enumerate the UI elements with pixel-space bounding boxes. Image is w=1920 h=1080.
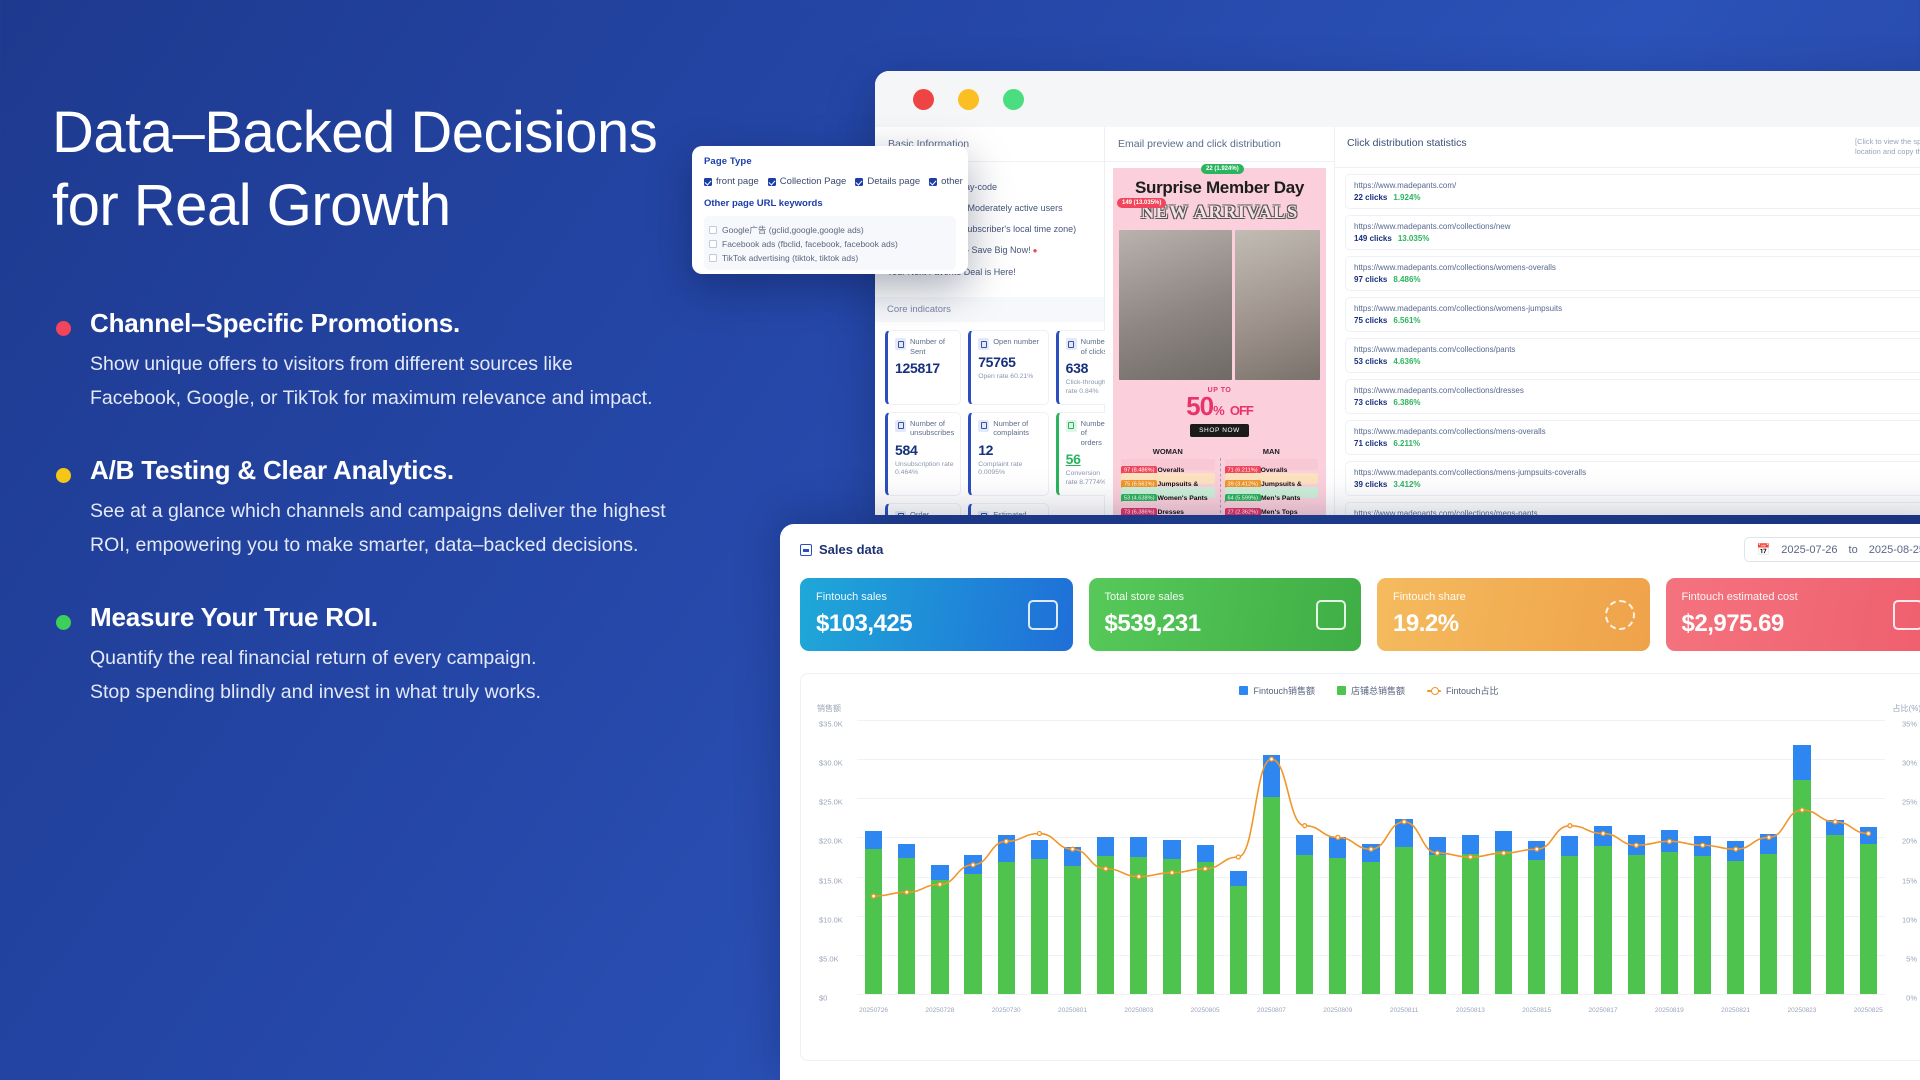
sales-kpi-total-store-sales: Total store sales $539,231 xyxy=(1089,578,1362,651)
cart-icon xyxy=(1066,420,1077,432)
offer-number: 50 xyxy=(1186,391,1213,421)
kpi-sublabel: Unsubscription rate 0.464% xyxy=(895,461,954,479)
window-titlebar xyxy=(875,71,1920,127)
row-chip: 27 (2.362%) xyxy=(1225,508,1261,515)
y-tick-right: 30% xyxy=(1902,759,1917,768)
kpi-value: 12 xyxy=(978,442,1041,458)
click-badge-left: 149 (13.035%) xyxy=(1117,198,1166,208)
chart-line-series xyxy=(857,720,1885,994)
core-indicators-header: Core indicators xyxy=(875,297,1104,322)
kpi-sublabel: Click-through rate 0.84% xyxy=(1066,379,1108,397)
warning-icon xyxy=(978,420,989,432)
list-item[interactable]: https://www.madepants.com/collections/dr… xyxy=(1345,379,1920,414)
page-type-card: Page Type front page Collection Page Det… xyxy=(692,146,968,274)
y-tick-left: $0 xyxy=(819,994,827,1003)
sales-title-group: Sales data xyxy=(800,542,883,557)
link-stat: 73 clicks6.386% xyxy=(1354,398,1920,407)
list-item[interactable]: https://www.madepants.com/collections/wo… xyxy=(1345,297,1920,332)
sales-header: Sales data 📅 2025-07-26 to 2025-08-25 xyxy=(780,524,1920,572)
list-item[interactable]: https://www.madepants.com/collections/pa… xyxy=(1345,338,1920,373)
checkbox-icon[interactable] xyxy=(855,178,863,186)
link-url: https://www.madepants.com/collections/ne… xyxy=(1354,222,1920,231)
y-axis-left-label: 销售额 xyxy=(817,703,841,714)
x-tick: 20250726 xyxy=(857,1007,890,1014)
checkbox-front-page[interactable]: front page xyxy=(704,176,759,187)
model-photo xyxy=(1119,230,1232,380)
list-item[interactable]: https://www.madepants.com/collections/wo… xyxy=(1345,256,1920,291)
sales-kpi-fintouch-share: Fintouch share 19.2% xyxy=(1377,578,1650,651)
card-icon xyxy=(978,511,989,515)
link-stat: 22 clicks1.924% xyxy=(1354,193,1920,202)
kpi-label: Open number xyxy=(993,337,1039,346)
bullet-dot-icon xyxy=(56,321,71,336)
x-tick: 20250803 xyxy=(1122,1007,1155,1014)
legend-item-fintouch-share[interactable]: Fintouch占比 xyxy=(1427,684,1499,697)
list-item[interactable]: https://www.madepants.com/collections/me… xyxy=(1345,420,1920,455)
minimize-icon[interactable] xyxy=(958,89,979,110)
y-tick-left: $25.0K xyxy=(819,798,843,807)
link-clicks: 97 clicks xyxy=(1354,275,1387,284)
core-indicators-grid: Number of Sent 125817 Open number 75765 … xyxy=(875,322,1104,515)
category-row: 73 (6.386%)Dresses xyxy=(1121,501,1215,512)
sales-kpi-fintouch-sales: Fintouch sales $103,425 xyxy=(800,578,1073,651)
close-icon[interactable] xyxy=(913,89,934,110)
click-distribution-note: [Click to view the specific location and… xyxy=(1855,137,1920,157)
link-clicks: 53 clicks xyxy=(1354,357,1387,366)
list-item[interactable]: https://www.madepants.com/collections/me… xyxy=(1345,461,1920,496)
feature-item-3: Measure Your True ROI. Quantify the real… xyxy=(52,602,822,709)
y-tick-right: 20% xyxy=(1902,837,1917,846)
kpi-value: 56 xyxy=(1066,451,1108,467)
kpi-label: Number of orders xyxy=(1081,419,1108,447)
category-title: WOMAN xyxy=(1121,447,1215,456)
kpi-value: $539,231 xyxy=(1105,610,1346,638)
kpi-label: Fintouch share xyxy=(1393,591,1634,603)
legend-item-store-sales[interactable]: 店铺总销售额 xyxy=(1337,684,1405,697)
link-stat: 149 clicks13.035% xyxy=(1354,234,1920,243)
feature-title: Measure Your True ROI. xyxy=(90,602,822,633)
gridline xyxy=(857,994,1885,995)
legend-label: Fintouch占比 xyxy=(1446,684,1499,697)
kpi-card: Number of Sent 125817 xyxy=(885,330,961,404)
feature-item-2: A/B Testing & Clear Analytics. See at a … xyxy=(52,455,822,562)
x-tick: 20250813 xyxy=(1454,1007,1487,1014)
checkbox-label: other xyxy=(941,176,963,187)
checkbox-label: Details page xyxy=(867,176,920,187)
chart-canvas xyxy=(857,720,1885,994)
model-photo xyxy=(1235,230,1320,380)
y-tick-left: $15.0K xyxy=(819,876,843,885)
link-url: https://www.madepants.com/collections/dr… xyxy=(1354,386,1920,395)
cursor-icon xyxy=(1066,338,1077,350)
feature-list: Channel–Specific Promotions. Show unique… xyxy=(52,308,822,709)
category-row: 64 (5.599%)Men's Pants xyxy=(1225,487,1319,498)
date-range-picker[interactable]: 📅 2025-07-26 to 2025-08-25 xyxy=(1744,537,1920,562)
checkbox-icon[interactable] xyxy=(709,240,717,248)
link-url: https://www.madepants.com/collections/wo… xyxy=(1354,263,1920,272)
checkbox-label: TikTok advertising (tiktok, tiktok ads) xyxy=(722,253,858,263)
sales-chart: Fintouch销售额 店铺总销售额 Fintouch占比 销售额 占比(%) … xyxy=(800,673,1920,1061)
kpi-label: Number of clicks xyxy=(1081,337,1108,356)
sales-kpi-row: Fintouch sales $103,425 Total store sale… xyxy=(780,572,1920,651)
chart-legend: Fintouch销售额 店铺总销售额 Fintouch占比 xyxy=(813,684,1920,697)
x-tick: 20250815 xyxy=(1520,1007,1553,1014)
bullet-dot-icon xyxy=(56,615,71,630)
x-axis-ticks: 20250726.20250728.20250730.20250801.2025… xyxy=(857,1007,1885,1014)
legend-item-fintouch-sales[interactable]: Fintouch销售额 xyxy=(1239,684,1315,697)
category-row: 71 (6.211%)Overalls xyxy=(1225,459,1319,470)
feature-title: A/B Testing & Clear Analytics. xyxy=(90,455,822,486)
checkbox-label: Collection Page xyxy=(780,176,847,187)
link-rate: 6.211% xyxy=(1393,439,1420,448)
kpi-label: Number of unsubscribes xyxy=(910,419,954,438)
y-tick-left: $10.0K xyxy=(819,915,843,924)
maximize-icon[interactable] xyxy=(1003,89,1024,110)
y-axis-right-label: 占比(%) xyxy=(1893,703,1920,714)
feature-body-line-2: Facebook, Google, or TikTok for maximum … xyxy=(90,387,653,409)
chart-icon xyxy=(800,544,812,556)
click-distribution-title: Click distribution statistics xyxy=(1347,137,1467,151)
list-item[interactable]: https://www.madepants.com/collections/ne… xyxy=(1345,215,1920,250)
cart-icon xyxy=(1316,600,1346,630)
checkbox-google-ads[interactable]: Google广告 (gclid,google,google ads) xyxy=(709,224,951,236)
x-tick: 20250809 xyxy=(1321,1007,1354,1014)
page-type-subheading: Other page URL keywords xyxy=(704,198,956,209)
envelope-icon xyxy=(895,338,906,350)
kpi-value: 75765 xyxy=(978,354,1041,370)
link-clicks: 149 clicks xyxy=(1354,234,1392,243)
checkbox-icon[interactable] xyxy=(704,178,712,186)
kpi-card: Open number 75765 Open rate 60.21% xyxy=(968,330,1048,404)
shop-now-button[interactable]: SHOP NOW xyxy=(1190,424,1249,437)
checkbox-other[interactable]: other xyxy=(929,176,963,187)
keyword-list: Google广告 (gclid,google,google ads) Faceb… xyxy=(704,216,956,270)
y-tick-right: 15% xyxy=(1902,876,1917,885)
feature-item-1: Channel–Specific Promotions. Show unique… xyxy=(52,308,822,415)
offer-value: 50% OFF xyxy=(1113,394,1326,419)
checkbox-details-page[interactable]: Details page xyxy=(855,176,920,187)
click-distribution-list: https://www.madepants.com/22 clicks1.924… xyxy=(1335,168,1920,516)
category-woman: WOMAN 97 (8.486%)Overalls 75 (6.561%)Jum… xyxy=(1121,447,1215,515)
sales-kpi-estimated-cost: Fintouch estimated cost $2,975.69 xyxy=(1666,578,1920,651)
y-tick-right: 5% xyxy=(1906,954,1917,963)
x-tick: 20250825 xyxy=(1852,1007,1885,1014)
row-label: Men's Tops xyxy=(1261,509,1298,515)
kpi-label: Number of complaints xyxy=(993,419,1041,438)
kpi-value: 19.2% xyxy=(1393,610,1634,638)
category-row: 39 (3.412%)Jumpsuits & Overalls xyxy=(1225,473,1319,484)
checkbox-label: Google广告 (gclid,google,google ads) xyxy=(722,224,864,236)
y-tick-left: $35.0K xyxy=(819,720,843,729)
link-rate: 4.636% xyxy=(1393,357,1420,366)
chart-axis-titles: 销售额 占比(%) xyxy=(813,703,1920,714)
x-tick: 20250805 xyxy=(1189,1007,1222,1014)
x-tick: 20250811 xyxy=(1388,1007,1421,1014)
category-title: MAN xyxy=(1225,447,1319,456)
checkbox-icon[interactable] xyxy=(709,254,717,262)
feature-body-line-1: Show unique offers to visitors from diff… xyxy=(90,353,573,375)
kpi-value: 638 xyxy=(1066,360,1108,376)
check-square-icon xyxy=(1028,600,1058,630)
x-tick: 20250817 xyxy=(1586,1007,1619,1014)
x-tick: 20250801 xyxy=(1056,1007,1089,1014)
click-distribution-header: Click distribution statistics [Click to … xyxy=(1335,127,1920,168)
kpi-sublabel: Open rate 60.21% xyxy=(978,373,1041,382)
checkbox-icon[interactable] xyxy=(709,226,717,234)
x-tick: 20250730 xyxy=(990,1007,1023,1014)
y-tick-right: 35% xyxy=(1902,720,1917,729)
link-rate: 13.035% xyxy=(1398,234,1430,243)
kpi-label: Estimated cost xyxy=(993,510,1041,515)
link-clicks: 73 clicks xyxy=(1354,398,1387,407)
link-stat: 71 clicks6.211% xyxy=(1354,439,1920,448)
kpi-label: Number of Sent xyxy=(910,337,954,356)
card-icon xyxy=(1893,600,1920,630)
legend-label: 店铺总销售额 xyxy=(1351,684,1405,697)
sales-title-text: Sales data xyxy=(819,542,883,557)
kpi-card: Number of complaints 12 Complaint rate 0… xyxy=(968,412,1048,496)
list-item[interactable]: https://www.madepants.com/collections/me… xyxy=(1345,502,1920,516)
row-label: Dresses xyxy=(1157,509,1183,515)
feature-body: Quantify the real financial return of ev… xyxy=(90,642,822,709)
link-rate: 6.386% xyxy=(1393,398,1420,407)
checkbox-collection-page[interactable]: Collection Page xyxy=(768,176,847,187)
link-url: https://www.madepants.com/ xyxy=(1354,181,1920,190)
offer-percent: % xyxy=(1213,403,1224,418)
window-body: Basic Information Surprise Member Day-co… xyxy=(875,127,1920,515)
y-tick-right: 10% xyxy=(1902,915,1917,924)
sales-data-window: Sales data 📅 2025-07-26 to 2025-08-25 Fi… xyxy=(780,524,1920,1080)
x-tick: 20250819 xyxy=(1653,1007,1686,1014)
email-preview-header: Email preview and click distribution xyxy=(1105,127,1334,162)
email-preview-frame: 22 (1.924%) 149 (13.035%) Surprise Membe… xyxy=(1105,162,1334,515)
link-clicks: 75 clicks xyxy=(1354,316,1387,325)
y-tick-right: 25% xyxy=(1902,798,1917,807)
checkbox-label: front page xyxy=(716,176,759,187)
kpi-card: Order amount $3804.72 Average order valu… xyxy=(885,503,961,515)
checkbox-facebook-ads[interactable]: Facebook ads (fbclid, facebook, facebook… xyxy=(709,239,951,249)
headline-line-1: Data–Backed Decisions xyxy=(52,100,657,165)
y-tick-right: 0% xyxy=(1906,994,1917,1003)
list-item[interactable]: https://www.madepants.com/22 clicks1.924… xyxy=(1345,174,1920,209)
kpi-card: Estimated cost $150.8546 xyxy=(968,503,1048,515)
kpi-value: 584 xyxy=(895,442,954,458)
feature-body-line-2: Stop spending blindly and invest in what… xyxy=(90,681,541,703)
row-chip: 73 (6.386%) xyxy=(1121,508,1157,515)
x-tick: 20250807 xyxy=(1255,1007,1288,1014)
feature-body-line-1: Quantify the real financial return of ev… xyxy=(90,647,537,669)
link-url: https://www.madepants.com/collections/pa… xyxy=(1354,345,1920,354)
category-row: 53 (4.638%)Women's Pants xyxy=(1121,487,1215,498)
checkbox-tiktok-ads[interactable]: TikTok advertising (tiktok, tiktok ads) xyxy=(709,253,951,263)
page-type-options: front page Collection Page Details page … xyxy=(704,176,956,187)
email-preview-panel: Email preview and click distribution 22 … xyxy=(1105,127,1335,515)
category-divider xyxy=(1220,458,1221,513)
click-distribution-panel: Click distribution statistics [Click to … xyxy=(1335,127,1920,515)
y-axis-left-ticks: $0$5.0K$10.0K$15.0K$20.0K$25.0K$30.0K$35… xyxy=(813,720,857,994)
click-badge-top: 22 (1.924%) xyxy=(1201,164,1244,174)
link-url: https://www.madepants.com/collections/me… xyxy=(1354,509,1920,516)
email-offer: UP TO 50% OFF SHOP NOW xyxy=(1113,380,1326,440)
offer-uptolabel: UP TO xyxy=(1113,387,1326,394)
x-tick: 20250728 xyxy=(923,1007,956,1014)
calendar-icon: 📅 xyxy=(1757,543,1771,556)
date-separator: to xyxy=(1849,544,1858,556)
feature-body: Show unique offers to visitors from diff… xyxy=(90,348,822,415)
link-stat: 39 clicks3.412% xyxy=(1354,480,1920,489)
link-clicks: 39 clicks xyxy=(1354,480,1387,489)
kpi-label: Fintouch estimated cost xyxy=(1682,591,1920,603)
date-from[interactable]: 2025-07-26 xyxy=(1781,544,1837,556)
legend-label: Fintouch销售额 xyxy=(1253,684,1315,697)
date-to[interactable]: 2025-08-25 xyxy=(1869,544,1920,556)
link-stat: 75 clicks6.561% xyxy=(1354,316,1920,325)
checkbox-label: Facebook ads (fbclid, facebook, facebook… xyxy=(722,239,898,249)
checkbox-icon[interactable] xyxy=(768,178,776,186)
kpi-label: Fintouch sales xyxy=(816,591,1057,603)
category-row: 27 (2.362%)Men's Tops xyxy=(1225,501,1319,512)
link-rate: 8.486% xyxy=(1393,275,1420,284)
link-url: https://www.madepants.com/collections/wo… xyxy=(1354,304,1920,313)
kpi-value: $2,975.69 xyxy=(1682,610,1920,638)
offer-word: OFF xyxy=(1230,403,1253,418)
bullet-dot-icon xyxy=(56,468,71,483)
checkbox-icon[interactable] xyxy=(929,178,937,186)
email-photos xyxy=(1113,230,1326,380)
headline-line-2: for Real Growth xyxy=(52,173,451,238)
link-rate: 6.561% xyxy=(1393,316,1420,325)
category-row: 97 (8.486%)Overalls xyxy=(1121,459,1215,470)
link-clicks: 71 clicks xyxy=(1354,439,1387,448)
email-body: Surprise Member Day NEW ARRIVALS UP TO 5… xyxy=(1113,168,1326,515)
x-tick: 20250821 xyxy=(1719,1007,1752,1014)
category-row: 75 (6.561%)Jumpsuits & Rompers xyxy=(1121,473,1215,484)
link-stat: 97 clicks8.486% xyxy=(1354,275,1920,284)
y-axis-right-ticks: 0%5%10%15%20%25%30%35% xyxy=(1885,720,1920,994)
link-clicks: 22 clicks xyxy=(1354,193,1387,202)
kpi-value: $103,425 xyxy=(816,610,1057,638)
category-man: MAN 71 (6.211%)Overalls 39 (3.412%)Jumps… xyxy=(1225,447,1319,515)
pie-icon xyxy=(1605,600,1635,630)
analytics-window: Basic Information Surprise Member Day-co… xyxy=(875,71,1920,515)
y-tick-left: $5.0K xyxy=(819,954,839,963)
kpi-sublabel: Conversion rate 8.7774% xyxy=(1066,470,1108,488)
kpi-card: Number of unsubscribes 584 Unsubscriptio… xyxy=(885,412,961,496)
x-tick: 20250823 xyxy=(1785,1007,1818,1014)
feature-body-line-1: See at a glance which channels and campa… xyxy=(90,500,666,522)
kpi-value: 125817 xyxy=(895,360,954,376)
y-tick-left: $20.0K xyxy=(819,837,843,846)
page-type-heading: Page Type xyxy=(704,156,956,167)
receipt-icon xyxy=(895,511,906,515)
y-tick-left: $30.0K xyxy=(819,759,843,768)
link-url: https://www.madepants.com/collections/me… xyxy=(1354,427,1920,436)
feature-body: See at a glance which channels and campa… xyxy=(90,495,822,562)
feature-title: Channel–Specific Promotions. xyxy=(90,308,822,339)
link-rate: 1.924% xyxy=(1393,193,1420,202)
kpi-sublabel: Complaint rate 0.0095% xyxy=(978,461,1041,479)
bell-off-icon xyxy=(895,420,906,432)
link-stat: 53 clicks4.636% xyxy=(1354,357,1920,366)
link-url: https://www.madepants.com/collections/me… xyxy=(1354,468,1920,477)
link-rate: 3.412% xyxy=(1393,480,1420,489)
eye-icon xyxy=(978,338,989,350)
kpi-label: Order amount xyxy=(910,510,954,515)
feature-body-line-2: ROI, empowering you to make smarter, dat… xyxy=(90,534,638,556)
chart-plot-area: $0$5.0K$10.0K$15.0K$20.0K$25.0K$30.0K$35… xyxy=(813,716,1920,1016)
kpi-label: Total store sales xyxy=(1105,591,1346,603)
